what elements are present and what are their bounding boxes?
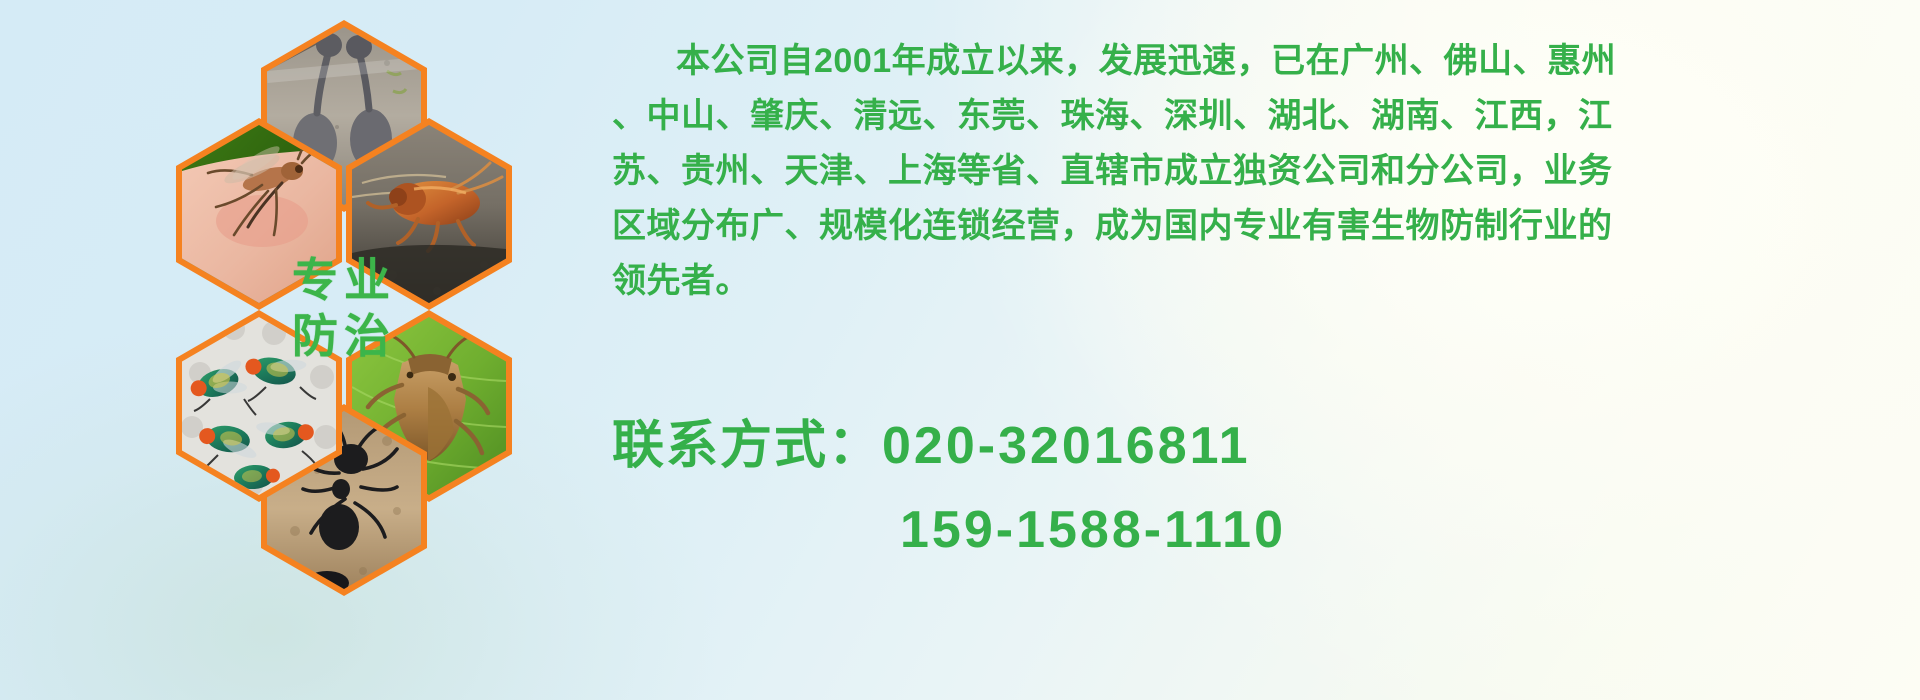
description-line-2: 、中山、肇庆、清远、东莞、珠海、深圳、湖北、湖南、江西，江 (612, 89, 1902, 144)
description-line-1: 本公司自2001年成立以来，发展迅速，已在广州、佛山、惠州 (612, 34, 1902, 89)
description-line-5: 领先者。 (612, 254, 1902, 309)
pest-control-banner: 专业 防治 本公司自2001年成立以来，发展迅速，已在广州、佛山、惠州 、中山、… (0, 0, 1920, 700)
contact-label: 联系方式： (612, 417, 882, 475)
company-description-block: 本公司自2001年成立以来，发展迅速，已在广州、佛山、惠州 、中山、肇庆、清远、… (612, 34, 1902, 309)
center-slogan-line-1: 专业 (292, 257, 396, 303)
phone-secondary[interactable]: 159-1588-1110 (612, 488, 1902, 572)
description-line-4: 区域分布广、规模化连锁经营，成为国内专业有害生物防制行业的 (612, 199, 1902, 254)
contact-block: 联系方式：020-32016811 159-1588-1110 (612, 404, 1902, 572)
description-line-3: 苏、贵州、天津、上海等省、直辖市成立独资公司和分公司，业务 (612, 144, 1902, 199)
phone-primary[interactable]: 020-32016811 (882, 417, 1251, 475)
center-slogan-line-2: 防治 (292, 313, 396, 359)
company-description: 本公司自2001年成立以来，发展迅速，已在广州、佛山、惠州 、中山、肇庆、清远、… (612, 34, 1902, 309)
honeycomb-collage: 专业 防治 (90, 8, 590, 588)
contact-primary-line: 联系方式：020-32016811 (612, 404, 1902, 488)
